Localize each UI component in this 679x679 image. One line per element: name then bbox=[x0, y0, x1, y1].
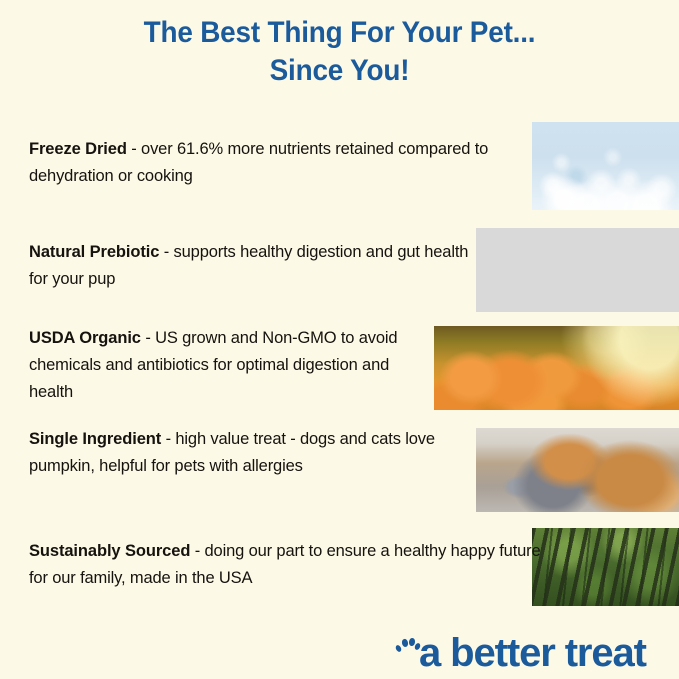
feature-text-natural-prebiotic: Natural Prebiotic - supports healthy dig… bbox=[29, 239, 474, 293]
cat-and-dog-photo bbox=[476, 428, 679, 512]
page-title-line-2: Since You! bbox=[24, 52, 655, 90]
paw-toe-pad-2 bbox=[401, 639, 408, 648]
feature-title-usda-organic: USDA Organic bbox=[29, 329, 141, 347]
page-title: The Best Thing For Your Pet... Since You… bbox=[24, 14, 655, 90]
chocolate-labrador-photo bbox=[476, 228, 679, 312]
brand-logo: a better treat bbox=[396, 631, 646, 673]
feature-text-freeze-dried: Freeze Dried - over 61.6% more nutrients… bbox=[29, 136, 509, 190]
brand-wordmark: a better treat bbox=[419, 633, 646, 673]
pumpkins-photo bbox=[434, 326, 679, 410]
feature-title-sustainably-sourced: Sustainably Sourced bbox=[29, 542, 190, 560]
feature-text-usda-organic: USDA Organic - US grown and Non-GMO to a… bbox=[29, 325, 434, 406]
paw-print-icon bbox=[396, 636, 418, 658]
feature-title-single-ingredient: Single Ingredient bbox=[29, 430, 161, 448]
feature-title-freeze-dried: Freeze Dried bbox=[29, 140, 127, 158]
feature-title-natural-prebiotic: Natural Prebiotic bbox=[29, 243, 159, 261]
forest-photo bbox=[532, 528, 679, 606]
feature-text-single-ingredient: Single Ingredient - high value treat - d… bbox=[29, 426, 469, 480]
feature-text-sustainably-sourced: Sustainably Sourced - doing our part to … bbox=[29, 538, 544, 592]
paw-toe-pad-1 bbox=[395, 644, 403, 653]
page-title-line-1: The Best Thing For Your Pet... bbox=[24, 14, 655, 52]
frost-ice-photo bbox=[532, 122, 679, 210]
